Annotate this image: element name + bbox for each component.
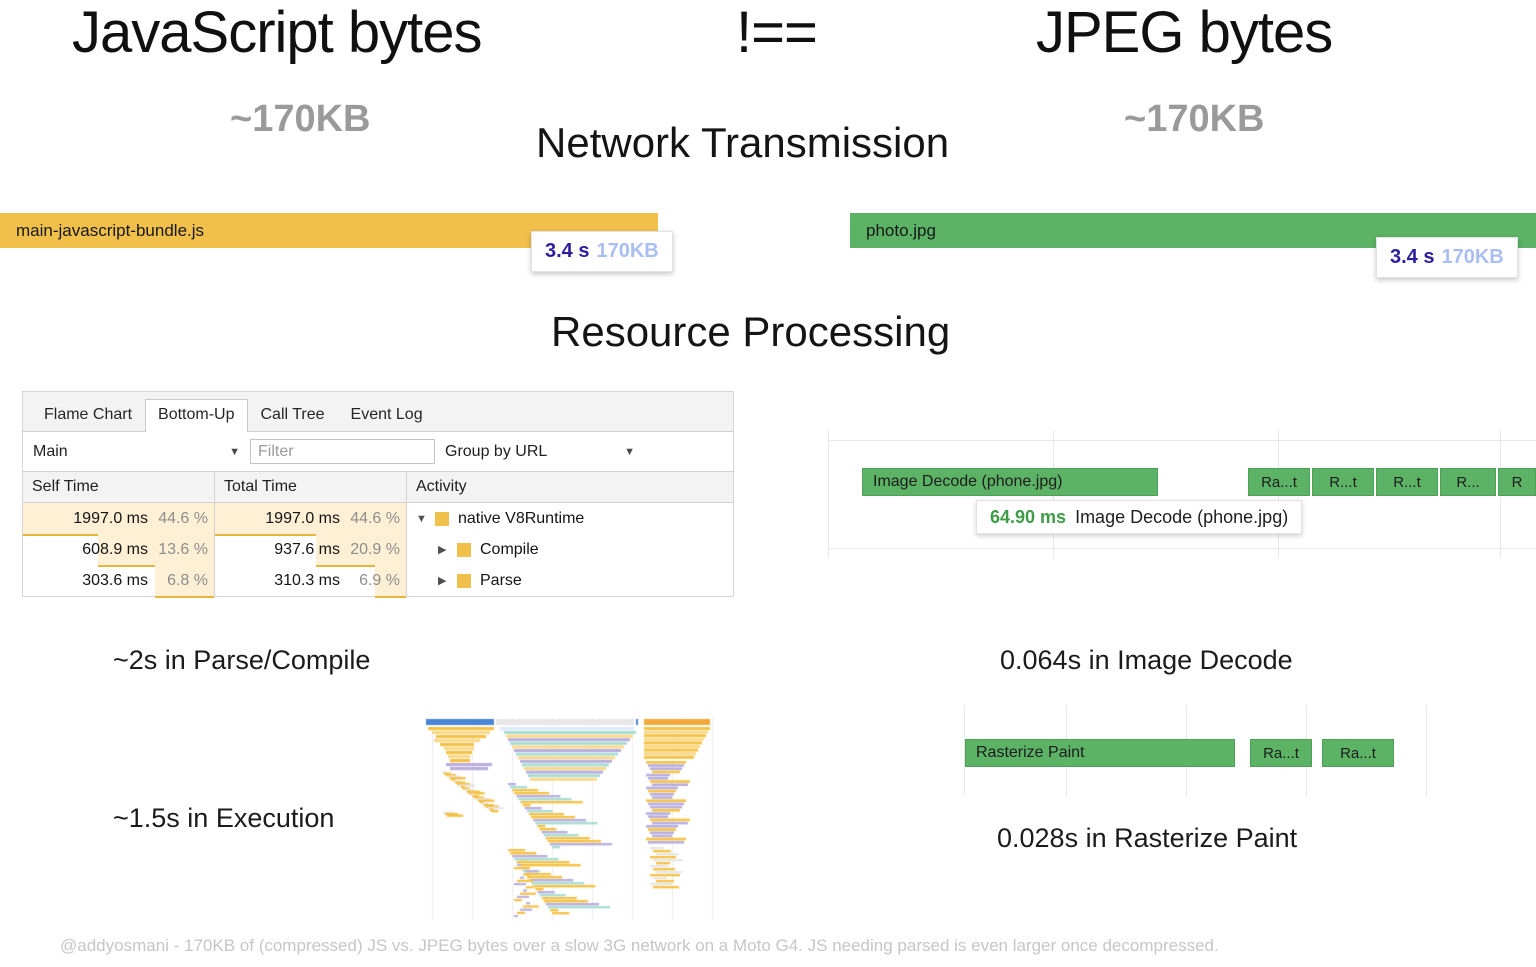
annotation-parse-compile: ~2s in Parse/Compile bbox=[113, 647, 370, 674]
devtools-performance-panel: Flame Chart Bottom-Up Call Tree Event Lo… bbox=[22, 391, 734, 597]
column-header-total-time[interactable]: Total Time bbox=[215, 472, 407, 502]
gridline bbox=[828, 430, 829, 558]
scripting-color-swatch bbox=[457, 574, 471, 588]
scripting-color-swatch bbox=[457, 543, 471, 557]
activity-label: Compile bbox=[480, 541, 539, 559]
scripting-color-swatch bbox=[435, 512, 449, 526]
column-header-activity[interactable]: Activity bbox=[407, 472, 733, 502]
chevron-down-icon: ▼ bbox=[624, 446, 635, 458]
annotation-image-decode: 0.064s in Image Decode bbox=[1000, 647, 1293, 674]
total-time-percent: 44.6 % bbox=[340, 510, 400, 528]
section-title-network-transmission: Network Transmission bbox=[536, 122, 949, 164]
timeline-bar-rasterize-1[interactable]: Ra...t bbox=[1248, 468, 1310, 496]
waterfall-jpeg-size: 170KB bbox=[1441, 246, 1503, 269]
timeline-bar-rasterize-paint-main[interactable]: Rasterize Paint bbox=[965, 739, 1235, 767]
triangle-right-icon[interactable]: ▶ bbox=[438, 543, 448, 556]
self-time-percent: 44.6 % bbox=[148, 510, 208, 528]
table-row[interactable]: 1997.0 ms 44.6 % 1997.0 ms 44.6 % ▼ nati… bbox=[23, 503, 733, 534]
timeline-bar-rasterize-paint-1[interactable]: Ra...t bbox=[1250, 739, 1312, 767]
timeline-top-rule bbox=[828, 440, 1536, 441]
tab-event-log[interactable]: Event Log bbox=[338, 399, 436, 431]
js-size-label: ~170KB bbox=[230, 100, 370, 138]
annotation-rasterize-paint: 0.028s in Rasterize Paint bbox=[997, 825, 1297, 852]
jpeg-size-label: ~170KB bbox=[1124, 100, 1264, 138]
scope-dropdown[interactable]: Main ▼ bbox=[33, 443, 240, 461]
triangle-down-icon[interactable]: ▼ bbox=[416, 513, 426, 525]
self-time-percent: 13.6 % bbox=[148, 541, 208, 559]
headline-javascript-bytes: JavaScript bytes bbox=[72, 4, 482, 62]
self-time-value: 303.6 ms bbox=[82, 572, 148, 590]
scope-dropdown-value: Main bbox=[33, 443, 68, 461]
total-time-value: 937.6 ms bbox=[274, 541, 340, 559]
self-time-percent: 6.8 % bbox=[148, 572, 208, 590]
chevron-down-icon: ▼ bbox=[229, 446, 240, 458]
filter-input-placeholder: Filter bbox=[258, 443, 294, 461]
total-time-percent: 20.9 % bbox=[340, 541, 400, 559]
section-title-resource-processing: Resource Processing bbox=[551, 311, 950, 353]
timeline-bar-image-decode[interactable]: Image Decode (phone.jpg) bbox=[862, 468, 1158, 496]
table-header-row: Self Time Total Time Activity bbox=[23, 472, 733, 503]
timeline-bar-rasterize-paint-2[interactable]: Ra...t bbox=[1322, 739, 1394, 767]
timeline-bar-rasterize-4[interactable]: R... bbox=[1440, 468, 1496, 496]
waterfall-js-time: 3.4 s bbox=[545, 240, 589, 263]
timeline-bar-rasterize-5[interactable]: R bbox=[1498, 468, 1536, 496]
waterfall-jpeg-time: 3.4 s bbox=[1390, 246, 1434, 269]
total-time-value: 1997.0 ms bbox=[265, 510, 340, 528]
grouping-dropdown-value: Group by URL bbox=[445, 443, 547, 461]
total-time-value: 310.3 ms bbox=[274, 572, 340, 590]
gridline bbox=[1426, 705, 1427, 795]
cell-activity: ▶ Compile bbox=[407, 541, 733, 559]
footer-caption: @addyosmani - 170KB of (compressed) JS v… bbox=[60, 936, 1219, 956]
cell-activity: ▶ Parse bbox=[407, 572, 733, 590]
triangle-right-icon[interactable]: ▶ bbox=[438, 574, 448, 587]
tab-bottom-up[interactable]: Bottom-Up bbox=[145, 399, 247, 432]
timeline-tooltip-image-decode: 64.90 ms Image Decode (phone.jpg) bbox=[976, 500, 1302, 534]
activity-label: Parse bbox=[480, 572, 522, 590]
waterfall-js-size: 170KB bbox=[596, 240, 658, 263]
table-row[interactable]: 608.9 ms 13.6 % 937.6 ms 20.9 % ▶ Compil… bbox=[23, 534, 733, 565]
timeline-bar-rasterize-2[interactable]: R...t bbox=[1312, 468, 1374, 496]
tooltip-label: Image Decode (phone.jpg) bbox=[1075, 507, 1288, 528]
cell-total-time: 937.6 ms 20.9 % bbox=[215, 534, 407, 565]
headline-not-equal-operator: !== bbox=[736, 4, 817, 62]
devtools-tab-bar: Flame Chart Bottom-Up Call Tree Event Lo… bbox=[23, 392, 733, 432]
devtools-toolbar: Main ▼ Filter Group by URL ▼ bbox=[23, 432, 733, 472]
tab-flame-chart[interactable]: Flame Chart bbox=[31, 399, 145, 431]
cell-self-time: 303.6 ms 6.8 % bbox=[23, 565, 215, 596]
table-row[interactable]: 303.6 ms 6.8 % 310.3 ms 6.9 % ▶ Parse bbox=[23, 565, 733, 596]
timeline-bottom-rule bbox=[828, 548, 1536, 549]
waterfall-tooltip-javascript: 3.4 s 170KB bbox=[531, 231, 673, 272]
tab-call-tree[interactable]: Call Tree bbox=[248, 399, 338, 431]
timeline-image-decode: Image Decode (phone.jpg) Ra...t R...t R.… bbox=[828, 430, 1536, 558]
total-time-percent: 6.9 % bbox=[340, 572, 400, 590]
self-time-value: 608.9 ms bbox=[82, 541, 148, 559]
activity-label: native V8Runtime bbox=[458, 510, 584, 528]
cell-total-time: 310.3 ms 6.9 % bbox=[215, 565, 407, 596]
timeline-bar-rasterize-3[interactable]: R...t bbox=[1376, 468, 1438, 496]
annotation-execution: ~1.5s in Execution bbox=[113, 805, 334, 832]
cell-self-time: 1997.0 ms 44.6 % bbox=[23, 503, 215, 534]
grouping-dropdown[interactable]: Group by URL ▼ bbox=[445, 443, 635, 461]
waterfall-tooltip-jpeg: 3.4 s 170KB bbox=[1376, 237, 1518, 278]
timeline-rasterize-paint: Rasterize Paint Ra...t Ra...t bbox=[960, 705, 1460, 795]
tooltip-duration: 64.90 ms bbox=[990, 507, 1066, 528]
waterfall-bar-jpeg-label: photo.jpg bbox=[850, 221, 936, 241]
cell-self-time: 608.9 ms 13.6 % bbox=[23, 534, 215, 565]
column-header-self-time[interactable]: Self Time bbox=[23, 472, 215, 502]
flame-chart-canvas bbox=[422, 717, 734, 920]
cell-total-time: 1997.0 ms 44.6 % bbox=[215, 503, 407, 534]
headline-jpeg-bytes: JPEG bytes bbox=[1036, 4, 1332, 62]
self-time-value: 1997.0 ms bbox=[73, 510, 148, 528]
flame-chart-thumbnail bbox=[422, 717, 734, 920]
cell-activity: ▼ native V8Runtime bbox=[407, 510, 733, 528]
filter-input[interactable]: Filter bbox=[250, 439, 435, 464]
waterfall-bar-javascript-label: main-javascript-bundle.js bbox=[0, 221, 204, 241]
